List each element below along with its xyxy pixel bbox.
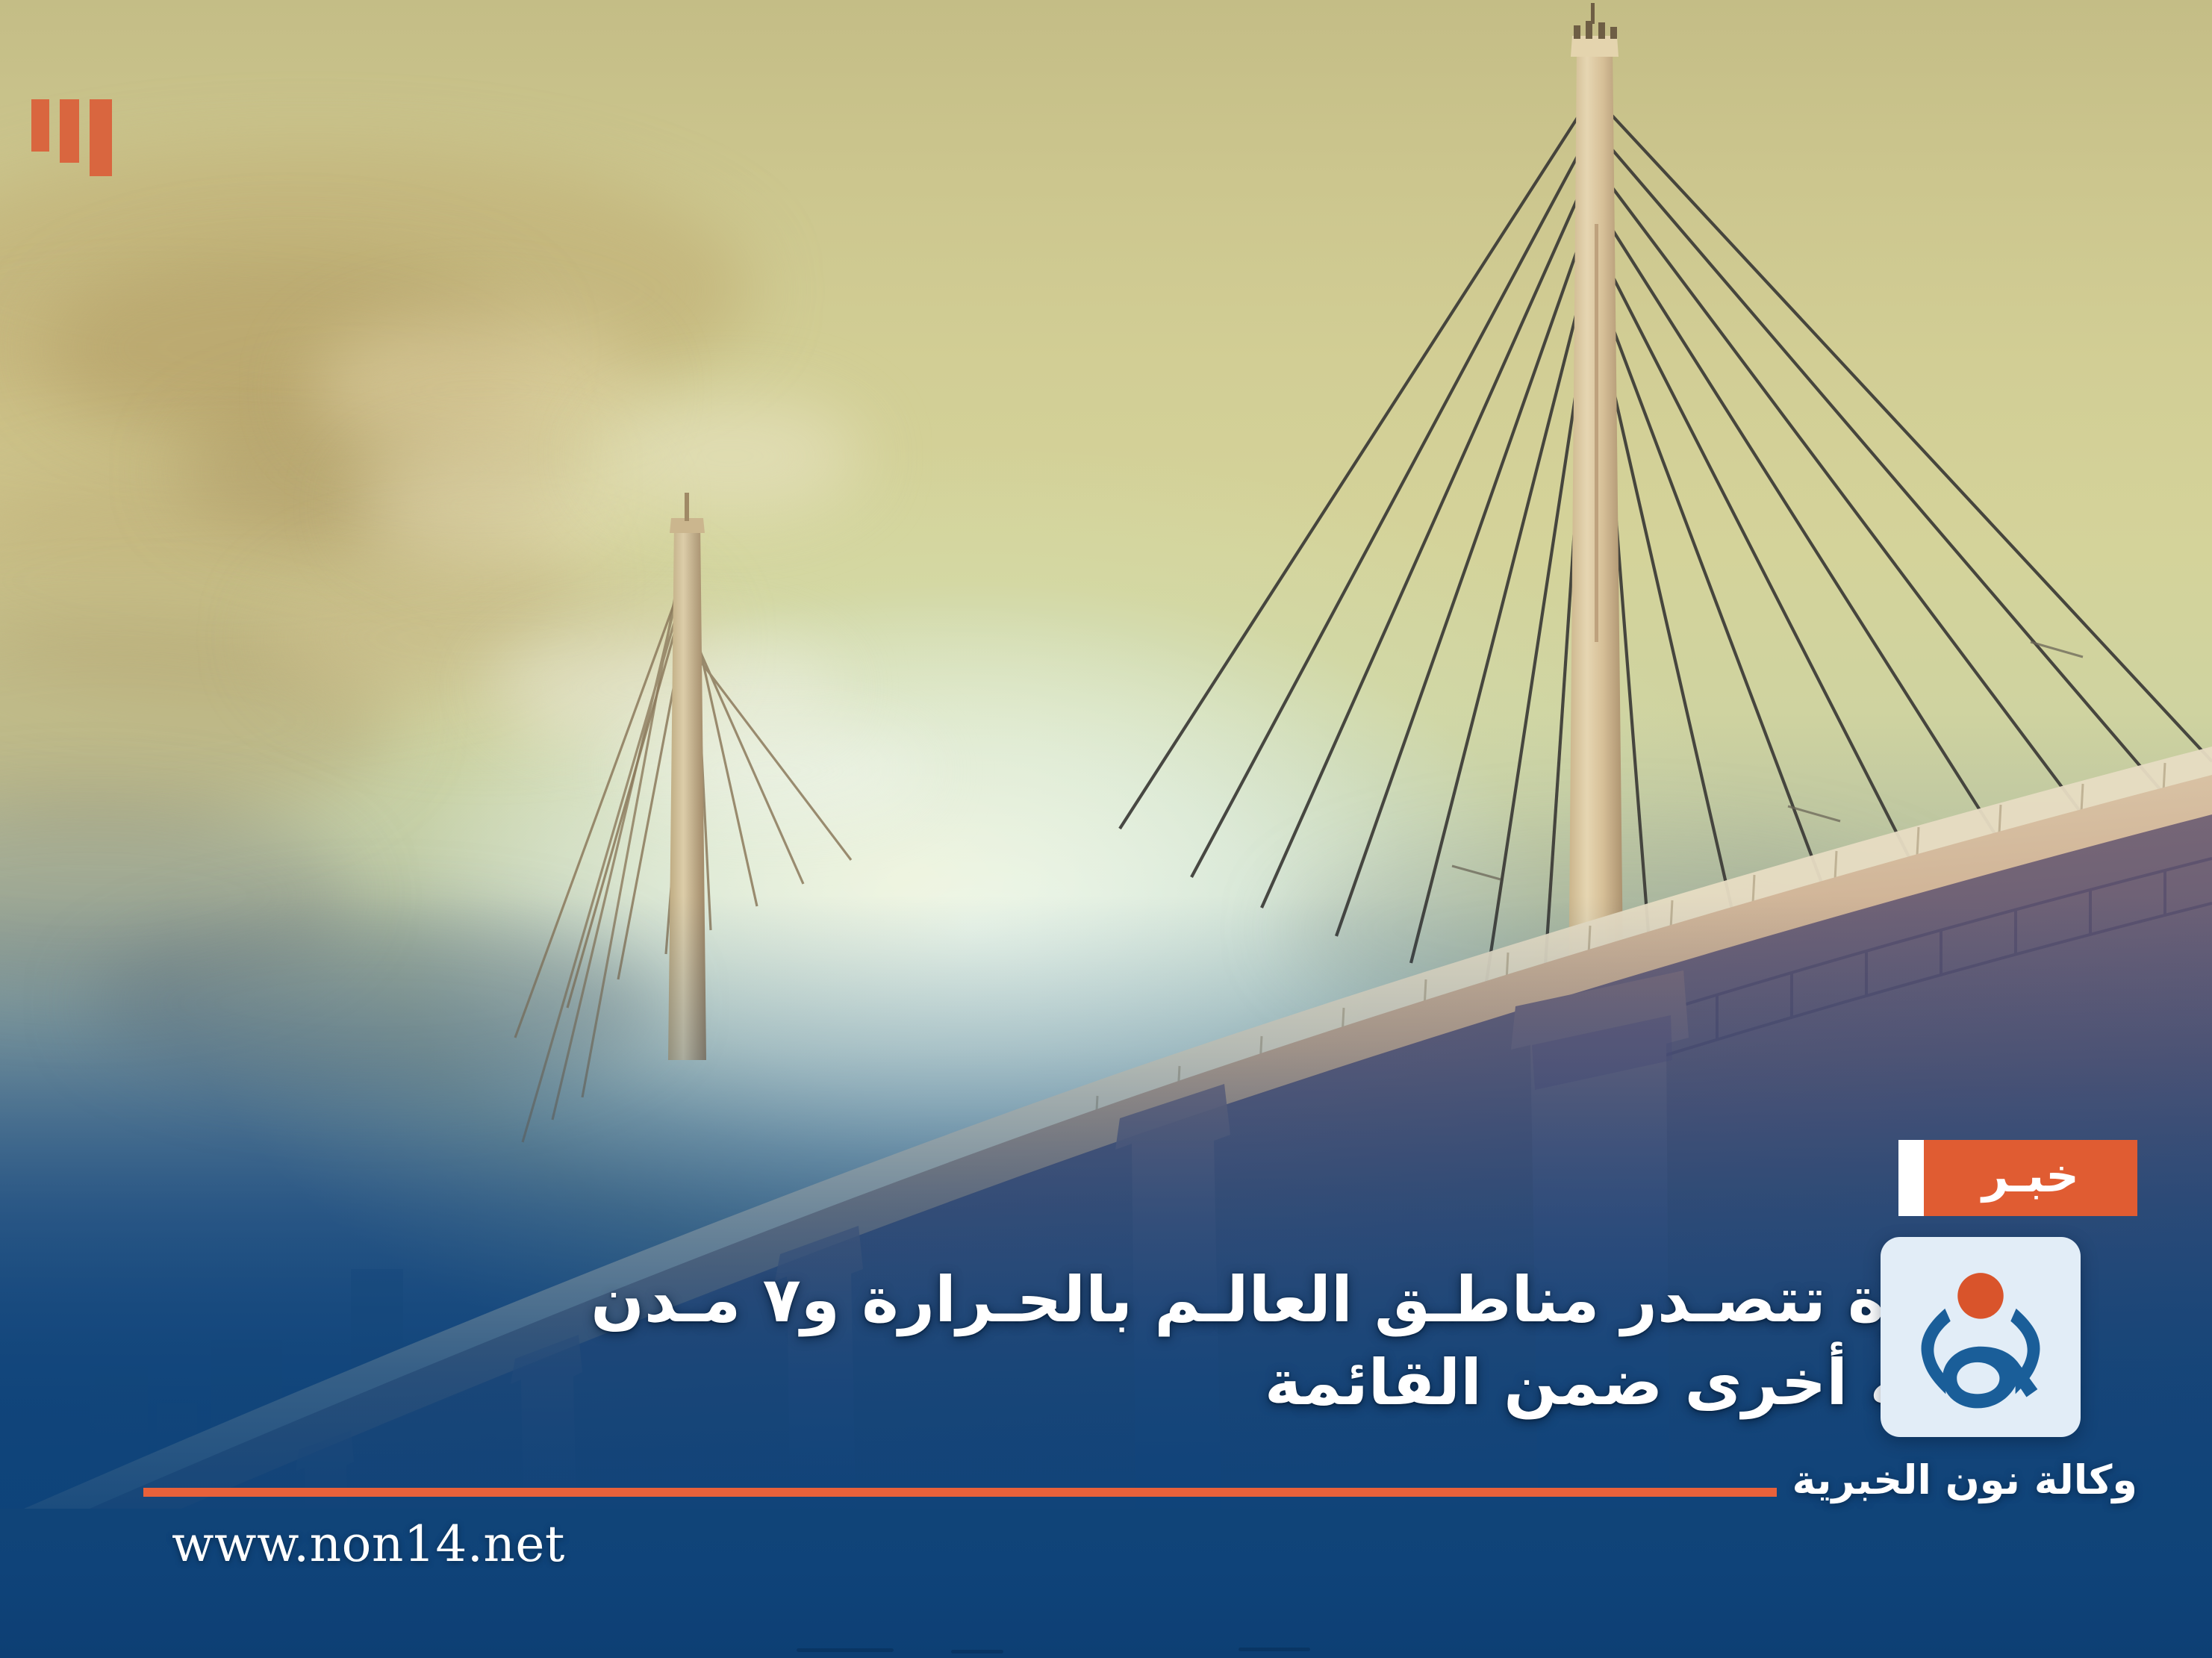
bar-mark-segment-2 (60, 99, 79, 163)
logo-nun-bowl (1942, 1347, 2037, 1409)
headline-line-2: عراقية أخرى ضمن القائمة (361, 1341, 2078, 1425)
brand-block: خبـر وكالة نون الخبرية (1824, 1140, 2137, 1502)
news-badge-label: خبـر (1924, 1140, 2137, 1216)
website-url[interactable]: www.non14.net (172, 1520, 565, 1569)
news-badge: خبـر (1898, 1140, 2137, 1216)
logo-orange-dot (1957, 1273, 2003, 1318)
headline-line-1: البصـرة تتصـدر مناطـق العالـم بالحـرارة … (361, 1259, 2078, 1342)
bar-mark-segment-1 (90, 99, 112, 176)
non14-nun-logo-icon (1901, 1258, 2060, 1416)
headline: البصـرة تتصـدر مناطـق العالـم بالحـرارة … (361, 1259, 2078, 1425)
accent-divider (143, 1488, 1777, 1497)
bar-mark-segment-3 (31, 99, 49, 152)
non14-logo-tile (1881, 1237, 2081, 1437)
news-card: البصـرة تتصـدر مناطـق العالـم بالحـرارة … (0, 0, 2212, 1658)
news-badge-white-tab (1898, 1140, 1924, 1216)
agency-name: وكالة نون الخبرية (1824, 1458, 2137, 1502)
non14-bars-mark-icon (31, 99, 112, 176)
